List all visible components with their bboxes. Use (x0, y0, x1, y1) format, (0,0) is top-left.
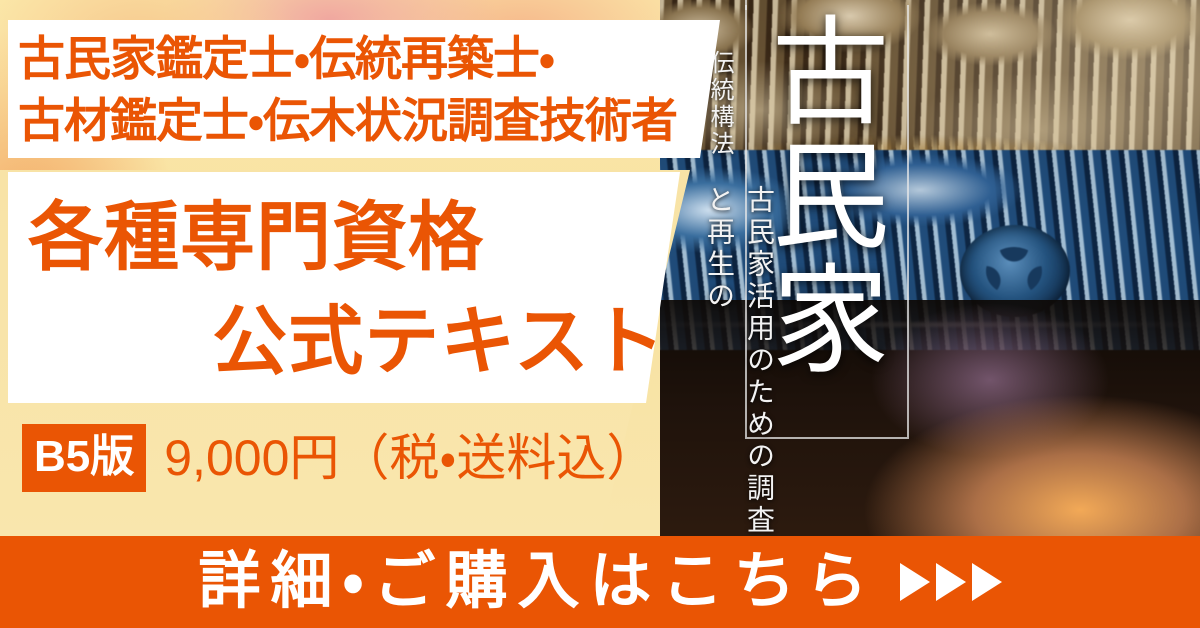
main-headline: 各種専門資格 公式テキスト (20, 186, 680, 393)
price-row: B5版 9,000円（税・送料込） (22, 424, 656, 492)
price-label: 9,000円（税・送料込） (164, 433, 656, 483)
book-cover-title: 古民家 (768, 10, 888, 382)
promo-banner: 古民家 伝統構法 古民家活用のための調査と再生の 古民家鑑定士・伝統再築士・ 古… (0, 0, 1200, 628)
qualifications-line-1: 古民家鑑定士・伝統再築士・ (18, 32, 554, 85)
triangle-right-icon (900, 563, 930, 601)
qualifications-line-2: 古材鑑定士・伝木状況調査技術者 (18, 94, 677, 147)
main-headline-line-2: 公式テキスト (20, 290, 680, 394)
format-badge: B5版 (22, 424, 146, 492)
cta-bar[interactable]: 詳細・ご購入はこちら (0, 536, 1200, 628)
cta-label: 詳細・ご購入はこちら (198, 551, 877, 613)
book-cover-subtitle-lower: 古民家活用のための調査と再生の (698, 185, 778, 540)
main-headline-line-1: 各種専門資格 (20, 186, 680, 290)
book-cover-photo: 古民家 伝統構法 古民家活用のための調査と再生の (660, 0, 1200, 540)
cta-arrow-group (900, 563, 1002, 601)
triangle-right-icon (972, 563, 1002, 601)
qualifications-headline: 古民家鑑定士・伝統再築士・ 古材鑑定士・伝木状況調査技術者 (18, 28, 718, 152)
triangle-right-icon (936, 563, 966, 601)
